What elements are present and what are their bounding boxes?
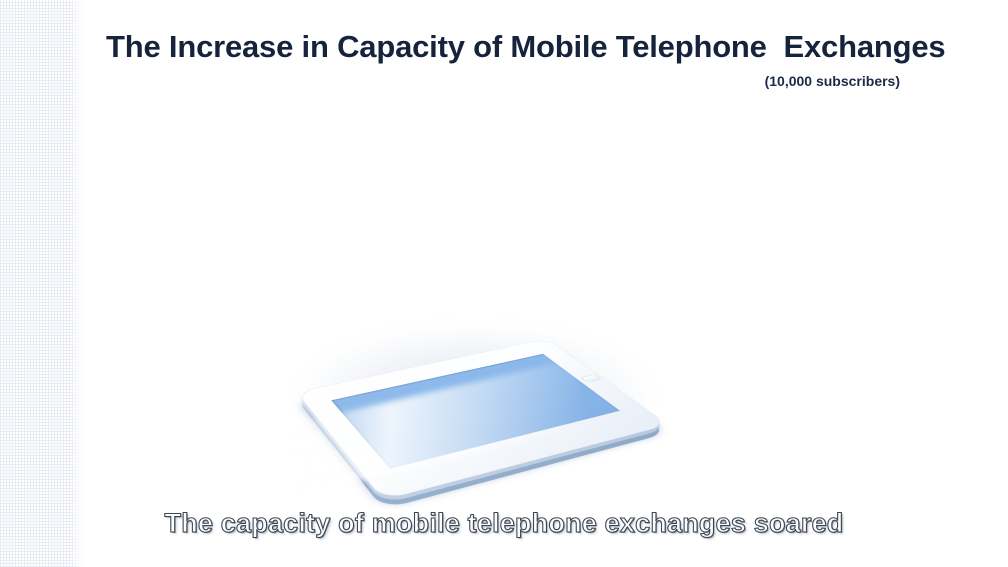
caption-text: The capacity of mobile telephone exchang… xyxy=(0,508,1008,539)
tablet-perspective-stage xyxy=(275,288,675,468)
camera-button-icon xyxy=(582,375,600,382)
slide-canvas: The Increase in Capacity of Mobile Telep… xyxy=(0,0,1008,567)
tablet-illustration xyxy=(275,288,675,468)
page-subtitle: (10,000 subscribers) xyxy=(765,73,900,89)
tablet-body xyxy=(296,338,669,500)
page-title: The Increase in Capacity of Mobile Telep… xyxy=(106,30,926,64)
left-texture-strip xyxy=(0,0,83,567)
